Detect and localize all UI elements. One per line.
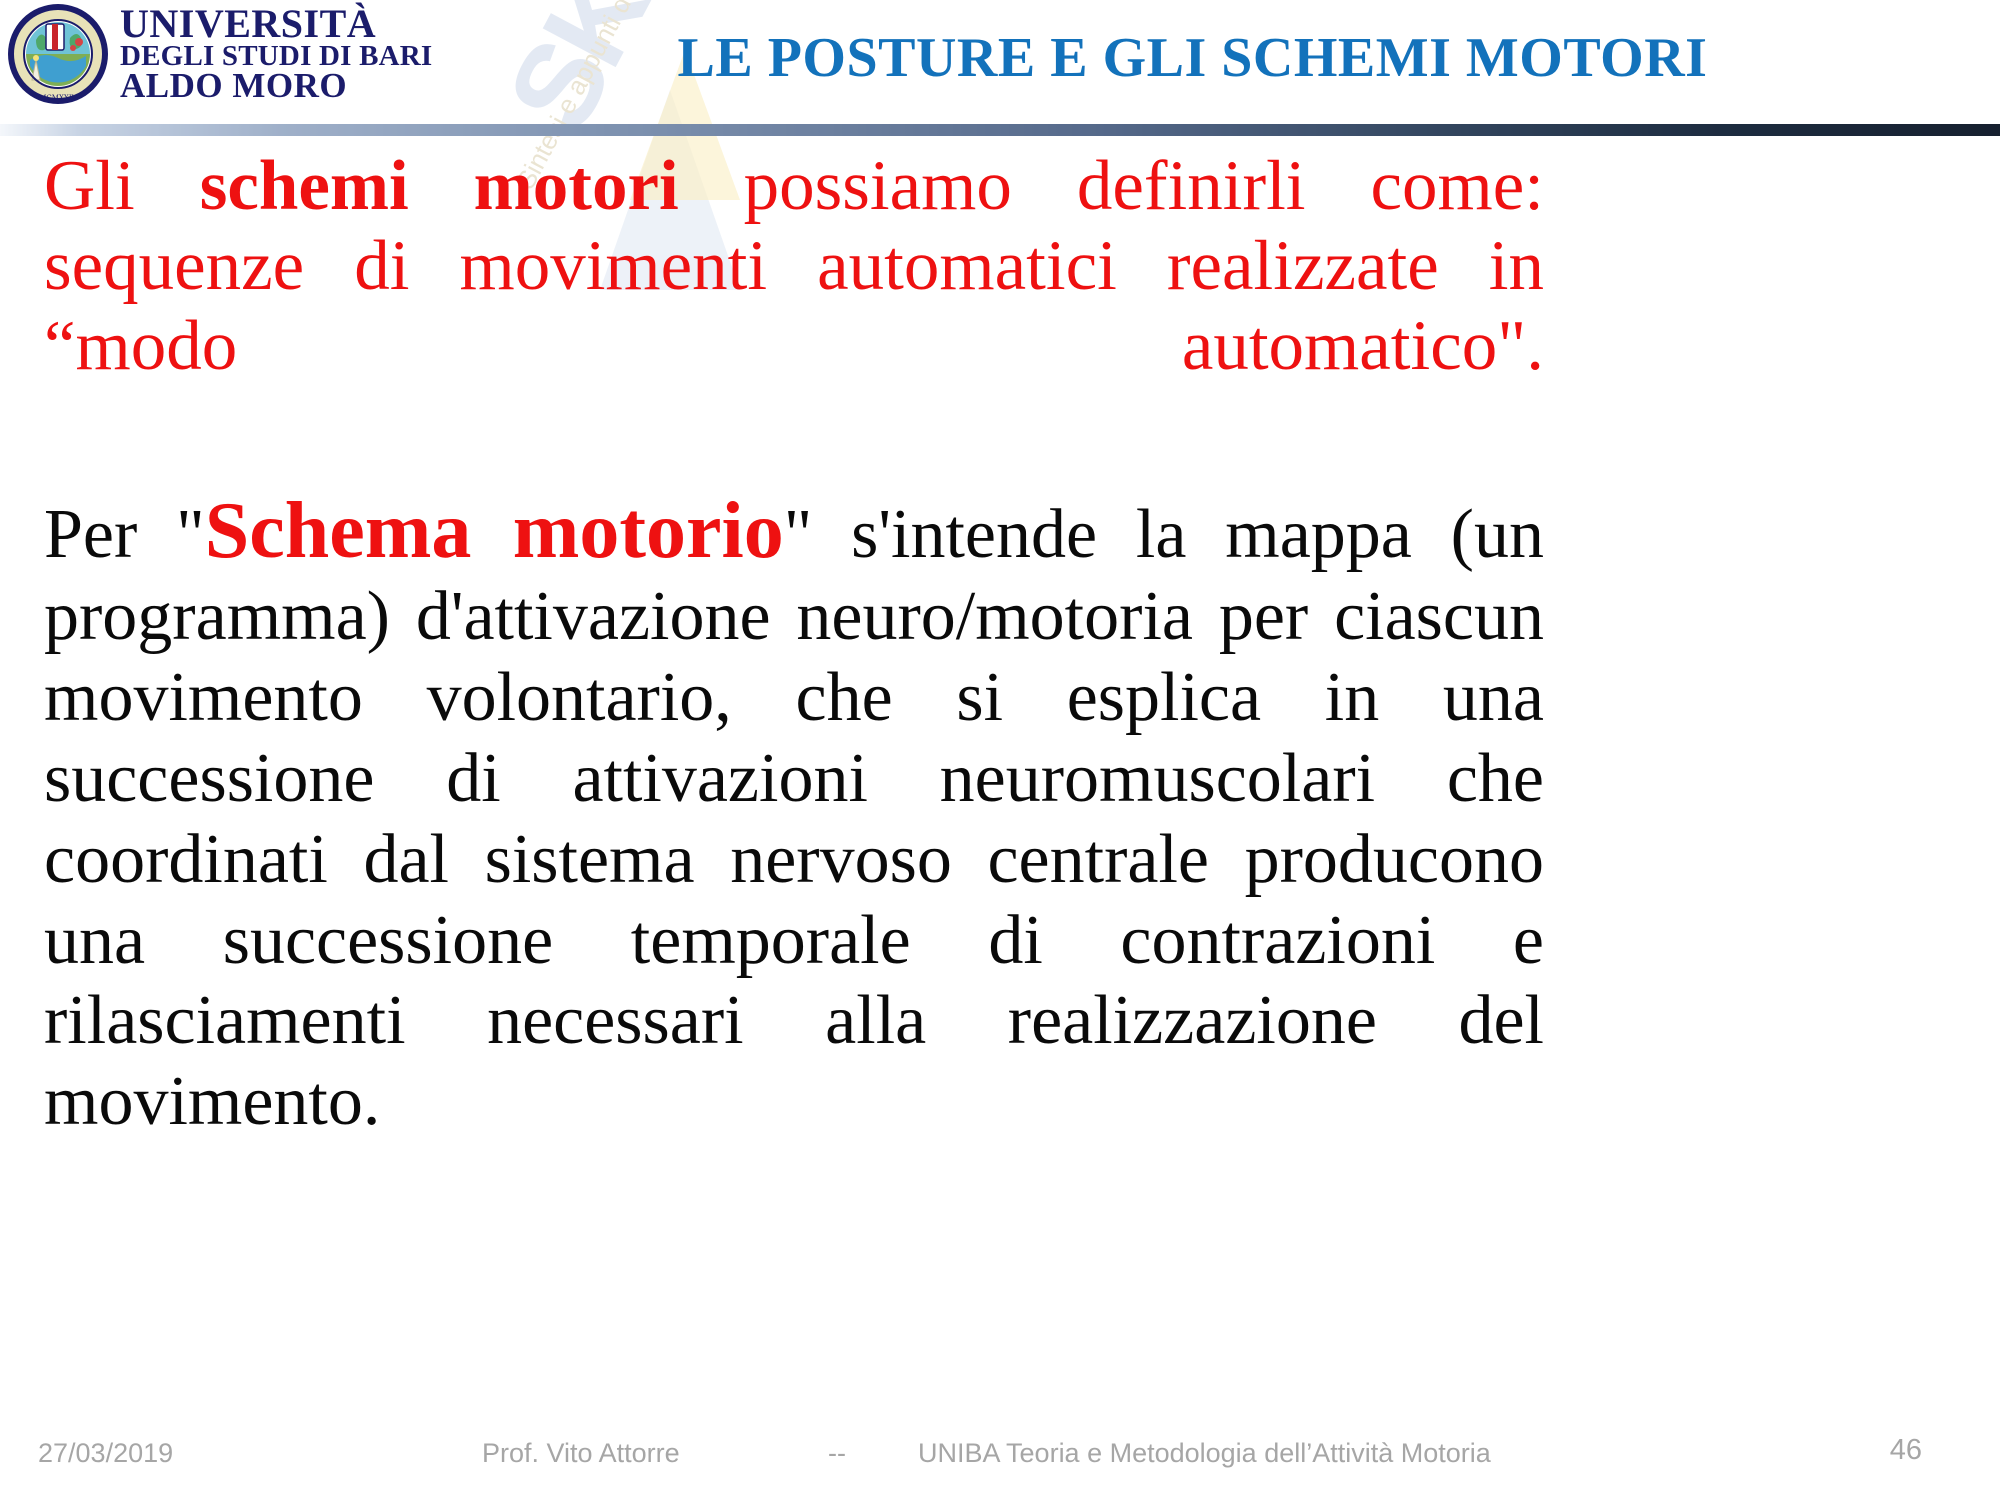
footer-date: 27/03/2019: [38, 1438, 173, 1469]
page-title: LE POSTURE E GLI SCHEMI MOTORI: [400, 26, 1985, 90]
footer-author: Prof. Vito Attorre: [482, 1438, 680, 1469]
slide: SKUBA Sintesi e appunti dello studente: [0, 0, 2000, 1500]
university-name-line3: ALDO MORO: [120, 70, 432, 102]
red-segment-1: Gli: [44, 147, 200, 225]
slide-footer: 27/03/2019 Prof. Vito Attorre -- UNIBA T…: [0, 1434, 2000, 1478]
slide-body: Gli schemi motori possiamo definirli com…: [44, 146, 1956, 1224]
paragraph-definition-black: Per "Schema motorio" s'intende la mappa …: [44, 485, 1544, 1224]
footer-page-number: 46: [1890, 1434, 1922, 1467]
black-segment-2: " s'intende la mappa (un programma) d'at…: [44, 496, 1544, 1140]
svg-text:·MCMXXIV·: ·MCMXXIV·: [37, 94, 79, 102]
footer-course: UNIBA Teoria e Metodologia dell’Attività…: [918, 1438, 1491, 1469]
header-divider: [0, 124, 2000, 136]
university-crest-icon: ·MCMXXIV·: [6, 2, 110, 106]
slide-header: ·MCMXXIV· UNIVERSITÀ DEGLI STUDI DI BARI…: [0, 0, 2000, 130]
university-name: UNIVERSITÀ DEGLI STUDI DI BARI ALDO MORO: [120, 6, 432, 102]
black-highlight-term: Schema motorio: [205, 487, 784, 575]
university-name-line1: UNIVERSITÀ: [120, 6, 432, 43]
university-logo: ·MCMXXIV· UNIVERSITÀ DEGLI STUDI DI BARI…: [6, 2, 432, 106]
paragraph-definition-red: Gli schemi motori possiamo definirli com…: [44, 146, 1544, 467]
footer-separator: --: [828, 1438, 846, 1469]
black-segment-1: Per ": [44, 496, 205, 573]
red-bold-term: schemi motori: [200, 147, 679, 225]
